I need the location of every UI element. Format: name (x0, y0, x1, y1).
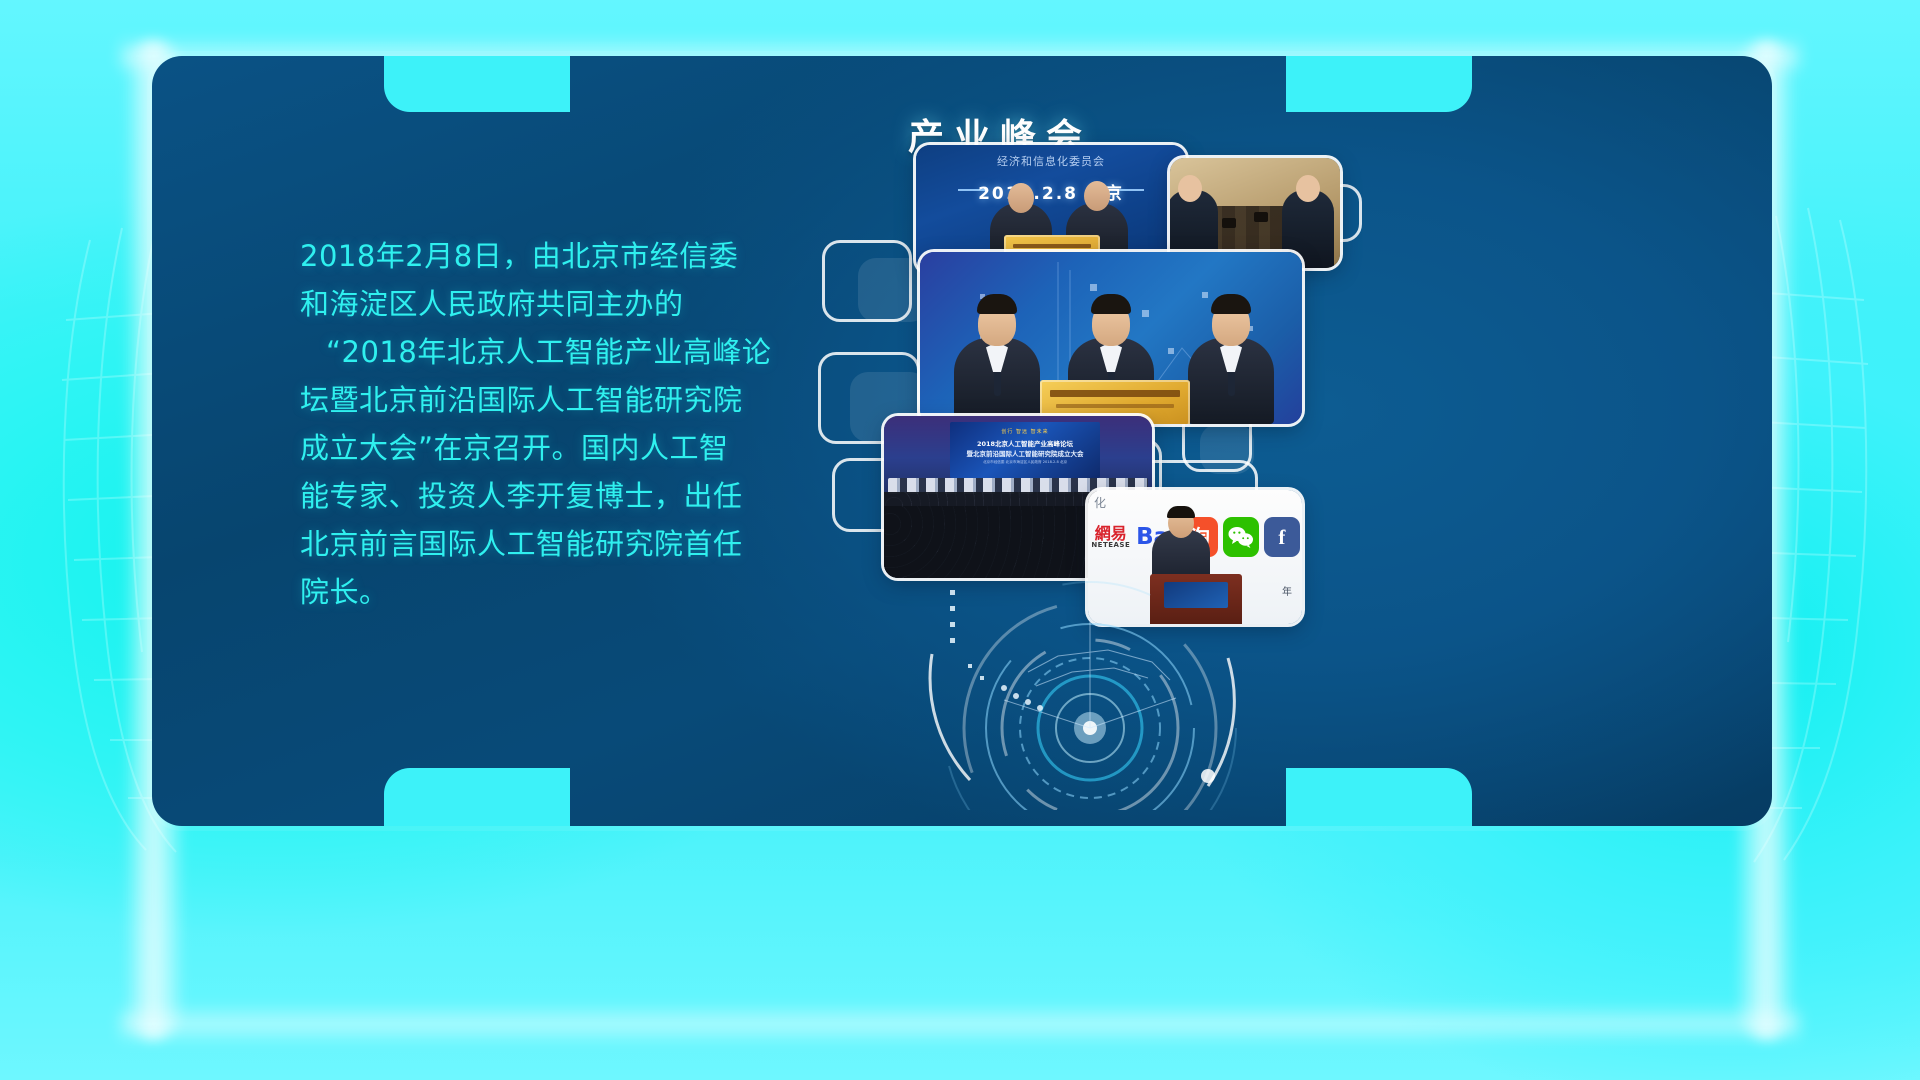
camera-icon (1254, 212, 1268, 222)
frame-glow-bottom (120, 1004, 1800, 1044)
summit-description: 2018年2月8日，由北京市经信委 和海淀区人民政府共同主办的 “2018年北京… (300, 232, 800, 616)
facebook-logo-icon: f (1264, 517, 1300, 557)
desc-line-3: “2018年北京人工智能产业高峰论 (300, 328, 800, 376)
stage-screen: 创行 智远 智未来 2018北京人工智能产业高峰论坛 暨北京前沿国际人工智能研究… (950, 422, 1100, 478)
netease-en-text: NETEASE (1091, 542, 1130, 549)
wechat-bubbles-icon (1228, 526, 1254, 548)
desc-line-1: 2018年2月8日，由北京市经信委 (300, 232, 800, 280)
poster-stage: 产业峰会 2018年2月8日，由北京市经信委 和海淀区人民政府共同主办的 “20… (0, 0, 1920, 1080)
netease-cn-text: 網易 (1095, 526, 1127, 542)
wechat-logo-icon (1223, 517, 1259, 557)
desc-line-4: 坛暨北京前沿国际人工智能研究院 (300, 376, 800, 424)
photo-main-unveiling[interactable] (920, 252, 1302, 424)
netease-logo-icon: 網易 NETEASE (1090, 517, 1132, 557)
desc-line-6: 能专家、投资人李开复博士，出任 (300, 472, 800, 520)
main-person-2-hair (1091, 294, 1131, 314)
main-person-1-tie (994, 372, 1001, 396)
desc-line-2: 和海淀区人民政府共同主办的 (300, 280, 800, 328)
radar-rings-icon (908, 580, 1268, 810)
hud-radar-graphic (908, 580, 1268, 810)
ceremony-backdrop-date: 2018.2.8 北京 (916, 179, 1186, 204)
speaker-hair (1167, 506, 1195, 518)
press-person-right-head (1296, 175, 1320, 202)
wall-text-right: 年 (1282, 583, 1292, 598)
desc-line-5: 成立大会”在京召开。国内人工智 (300, 424, 800, 472)
main-person-1-hair (977, 294, 1017, 314)
ceremony-backdrop-header: 经济和信息化委员会 (916, 153, 1186, 169)
wall-text-left: 化 (1094, 494, 1106, 511)
screen-kicker: 创行 智远 智未来 (950, 428, 1100, 435)
corner-notch-top-left (384, 56, 570, 112)
main-person-3-tie (1228, 372, 1235, 396)
screen-title-line-2: 暨北京前沿国际人工智能研究院成立大会 (950, 448, 1100, 458)
ceremony-person-right-head (1084, 181, 1110, 211)
corner-notch-bottom-left (384, 768, 570, 826)
desc-line-8: 院长。 (300, 568, 800, 616)
desc-line-7: 北京前言国际人工智能研究院首任 (300, 520, 800, 568)
screen-title-line-1: 2018北京人工智能产业高峰论坛 (950, 438, 1100, 448)
corner-notch-top-right (1286, 56, 1472, 112)
press-person-left-head (1178, 175, 1202, 202)
photo-collage: 经济和信息化委员会 2018.2.8 北京 (818, 140, 1608, 820)
camera-icon (1222, 218, 1236, 228)
main-person-3-hair (1211, 294, 1251, 314)
ceremony-person-left-head (1008, 183, 1034, 213)
screen-subtitle: 北京市经信委 北京市海淀区人民政府 2018.2.8 北京 (950, 460, 1100, 465)
facebook-logo-text: f (1278, 525, 1285, 550)
